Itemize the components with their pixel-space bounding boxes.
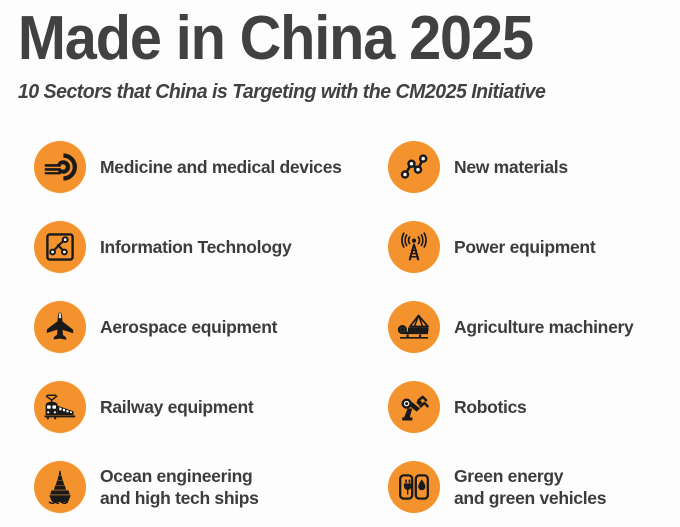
sector-label: Agriculture machinery: [454, 316, 633, 338]
poster-header: Made in China 2025 10 Sectors that China…: [0, 0, 680, 104]
sector-item-green-energy: Green energy and green vehicles: [388, 447, 680, 527]
sector-list: Medicine and medical devices: [0, 127, 680, 527]
sector-label: Medicine and medical devices: [100, 156, 342, 178]
sector-item-information-technology: Information Technology: [34, 207, 388, 287]
sector-label-line2: and high tech ships: [100, 487, 259, 509]
sector-item-new-materials: New materials: [388, 127, 680, 207]
harvester-icon: [388, 301, 440, 353]
circuit-chip-icon: [34, 221, 86, 273]
sector-label: Railway equipment: [100, 396, 253, 418]
page-title: Made in China 2025: [16, 6, 619, 72]
sector-label: Power equipment: [454, 236, 595, 258]
sector-label: Robotics: [454, 396, 526, 418]
energy-plug-icon: [388, 461, 440, 513]
train-icon: [34, 381, 86, 433]
ship-icon: [34, 461, 86, 513]
sector-label: Aerospace equipment: [100, 316, 277, 338]
sector-item-ocean-engineering: Ocean engineering and high tech ships: [34, 447, 388, 527]
sector-label: Information Technology: [100, 236, 291, 258]
sector-label: Ocean engineering and high tech ships: [100, 465, 259, 509]
sector-item-robotics: Robotics: [388, 367, 680, 447]
sector-item-railway: Railway equipment: [34, 367, 388, 447]
sector-label: Green energy and green vehicles: [454, 465, 606, 509]
molecule-icon: [388, 141, 440, 193]
robot-arm-icon: [388, 381, 440, 433]
fighter-jet-icon: [34, 301, 86, 353]
page-subtitle: 10 Sectors that China is Targeting with …: [16, 80, 635, 104]
sector-item-agriculture: Agriculture machinery: [388, 287, 680, 367]
transmission-tower-icon: [388, 221, 440, 273]
sector-item-medicine: Medicine and medical devices: [34, 127, 388, 207]
sector-item-aerospace: Aerospace equipment: [34, 287, 388, 367]
sector-label: New materials: [454, 156, 568, 178]
infographic-poster: Made in China 2025 10 Sectors that China…: [0, 0, 680, 512]
mri-scanner-icon: [34, 141, 86, 193]
sector-item-power-equipment: Power equipment: [388, 207, 680, 287]
sector-label-line2: and green vehicles: [454, 487, 606, 509]
